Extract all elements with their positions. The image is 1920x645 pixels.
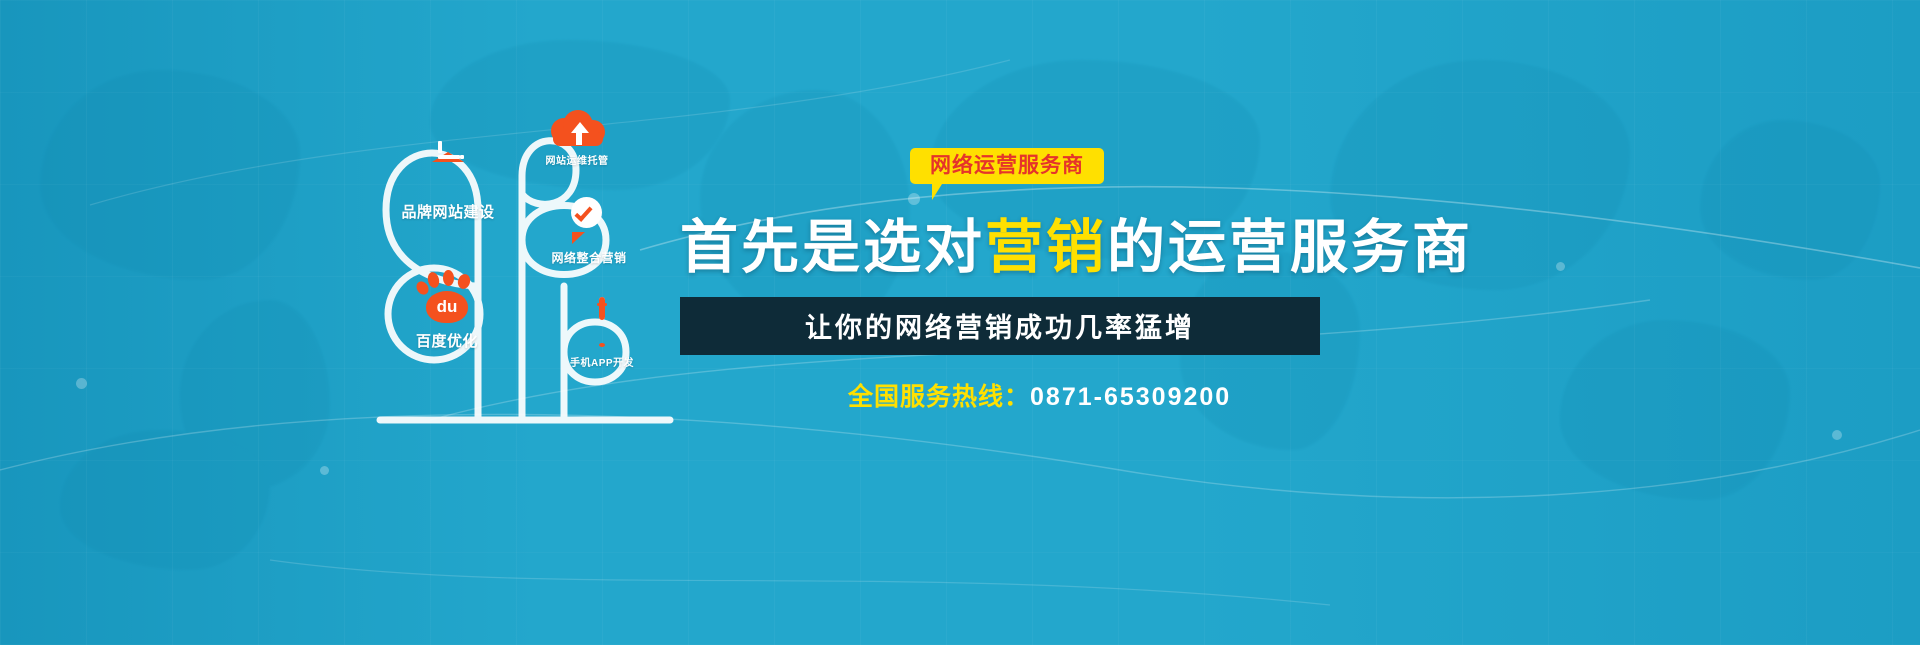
- baidu-paw-icon-text: du: [426, 294, 468, 320]
- decor-dot: [1832, 430, 1842, 440]
- tree-node-integrated-marketing: 网络整合营销: [528, 190, 650, 266]
- subheadline-label: 让你的网络营销成功几率猛增: [805, 306, 1195, 345]
- banner-copy-block: 网络运营服务商 首先是选对营销的运营服务商 让你的网络营销成功几率猛增 全国服务…: [680, 148, 1580, 413]
- decor-dot: [76, 378, 87, 389]
- headline-part2: 的运营服务商: [1107, 215, 1473, 280]
- badge-tail: [932, 184, 954, 200]
- tree-node-label: 网络整合营销: [528, 249, 650, 266]
- tree-node-brand-website: 品牌网站建设: [368, 135, 528, 222]
- subheadline-bar: 让你的网络营销成功几率猛增: [680, 297, 1320, 355]
- cloud-upload-icon: [549, 108, 605, 148]
- hotline-label: 全国服务热线：: [848, 383, 1030, 411]
- tree-node-baidu-optimization: du 百度优化: [372, 270, 522, 351]
- promo-banner: 品牌网站建设 du 百度优化 网站运维托管: [0, 0, 1920, 645]
- tree-node-label: 百度优化: [372, 330, 522, 351]
- service-badge-label: 网络运营服务商: [930, 154, 1084, 177]
- tree-node-site-hosting: 网站运维托管: [518, 108, 636, 167]
- service-tree-graphic: 品牌网站建设 du 百度优化 网站运维托管: [350, 90, 710, 440]
- tree-node-app-development: 手机APP开发: [548, 300, 656, 369]
- headline-part1: 首先是选对: [680, 215, 985, 280]
- tree-node-label: 手机APP开发: [548, 354, 656, 369]
- headline-highlight: 营销: [985, 215, 1107, 280]
- tree-node-label: 网站运维托管: [518, 152, 636, 167]
- smartphone-icon: [587, 300, 617, 350]
- chat-check-icon: [562, 190, 616, 244]
- decor-dot: [320, 466, 329, 475]
- page-title: 首先是选对营销的运营服务商: [680, 218, 1580, 279]
- hotline-number: 0871-65309200: [1030, 383, 1231, 411]
- monitor-icon: [414, 135, 482, 193]
- badge-row: 网络运营服务商: [680, 148, 1580, 202]
- tree-node-label: 品牌网站建设: [368, 201, 528, 222]
- service-badge: 网络运营服务商: [910, 148, 1104, 184]
- baidu-paw-icon: du: [416, 270, 478, 326]
- hotline-row: 全国服务热线：0871-65309200: [680, 377, 1580, 413]
